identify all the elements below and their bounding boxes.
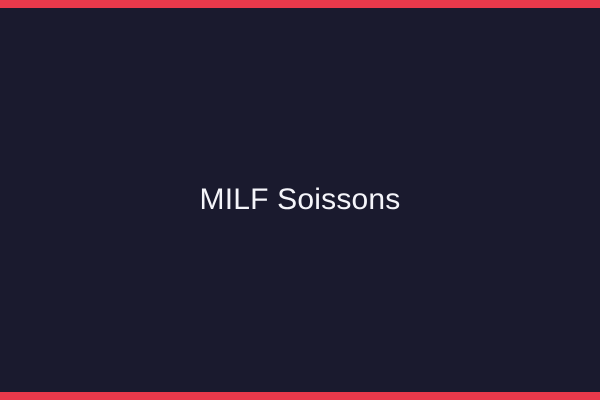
placeholder-body: MILF Soissons — [0, 8, 600, 392]
bottom-accent-bar — [0, 392, 600, 400]
placeholder-card: MILF Soissons — [0, 0, 600, 400]
top-accent-bar — [0, 0, 600, 8]
placeholder-title: MILF Soissons — [200, 182, 401, 218]
